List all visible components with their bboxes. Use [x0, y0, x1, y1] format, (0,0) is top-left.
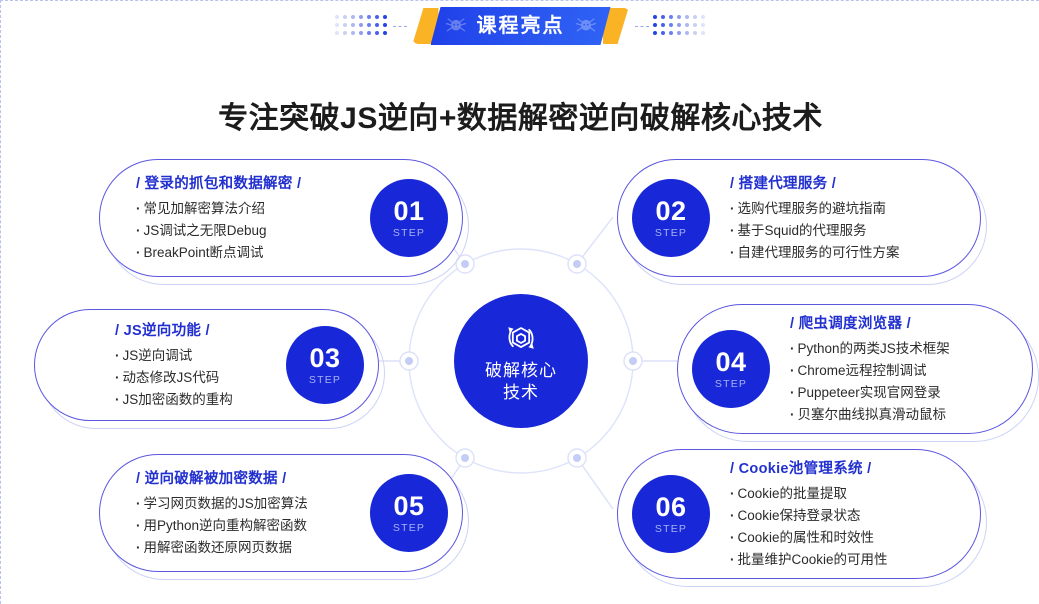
list-item: 学习网页数据的JS加密算法	[136, 493, 308, 515]
step-badge: 02 STEP	[632, 179, 710, 257]
list-item: JS调试之无限Debug	[136, 220, 301, 242]
list-item: JS加密函数的重构	[115, 389, 233, 411]
list-item: 选购代理服务的避坑指南	[730, 198, 900, 220]
card-pill: / JS逆向功能 / JS逆向调试 动态修改JS代码 JS加密函数的重构 03 …	[34, 309, 379, 421]
step-number: 02	[655, 198, 686, 225]
step-card-02[interactable]: 02 STEP / 搭建代理服务 / 选购代理服务的避坑指南 基于Squid的代…	[617, 159, 981, 277]
cube-rotate-icon	[501, 318, 541, 358]
card-pill: 04 STEP / 爬虫调度浏览器 / Python的两类JS技术框架 Chro…	[677, 304, 1033, 434]
card-body: / 登录的抓包和数据解密 / 常见加解密算法介绍 JS调试之无限Debug Br…	[130, 172, 307, 264]
card-body: / 搭建代理服务 / 选购代理服务的避坑指南 基于Squid的代理服务 自建代理…	[724, 172, 906, 264]
list-item: 用Python逆向重构解密函数	[136, 515, 308, 537]
card-item-list: Python的两类JS技术框架 Chrome远程控制调试 Puppeteer实现…	[790, 338, 950, 425]
list-item: 贝塞尔曲线拟真滑动鼠标	[790, 404, 950, 426]
banner-row: 课程亮点	[1, 5, 1039, 47]
step-number: 01	[393, 198, 424, 225]
list-item: JS逆向调试	[115, 345, 233, 367]
step-label: STEP	[715, 378, 747, 390]
list-item: 基于Squid的代理服务	[730, 220, 900, 242]
step-card-05[interactable]: / 逆向破解被加密数据 / 学习网页数据的JS加密算法 用Python逆向重构解…	[99, 454, 463, 572]
card-heading: / JS逆向功能 /	[115, 319, 233, 340]
card-pill: / 逆向破解被加密数据 / 学习网页数据的JS加密算法 用Python逆向重构解…	[99, 454, 463, 572]
spider-icon	[445, 17, 467, 35]
step-badge: 05 STEP	[370, 474, 448, 552]
list-item: Cookie的批量提取	[730, 483, 888, 505]
section-banner: 课程亮点	[413, 7, 629, 45]
card-item-list: JS逆向调试 动态修改JS代码 JS加密函数的重构	[115, 345, 233, 411]
list-item: Cookie保持登录状态	[730, 505, 888, 527]
card-heading: / 爬虫调度浏览器 /	[790, 312, 950, 333]
spider-icon	[575, 17, 597, 35]
list-item: BreakPoint断点调试	[136, 242, 301, 264]
step-number: 03	[309, 345, 340, 372]
list-item: 动态修改JS代码	[115, 367, 233, 389]
step-label: STEP	[655, 523, 687, 535]
list-item: 批量维护Cookie的可用性	[730, 549, 888, 571]
card-pill: 02 STEP / 搭建代理服务 / 选购代理服务的避坑指南 基于Squid的代…	[617, 159, 981, 277]
step-number: 04	[715, 349, 746, 376]
step-badge: 03 STEP	[286, 326, 364, 404]
dot-grid-right-decoration	[653, 15, 707, 37]
card-body: / Cookie池管理系统 / Cookie的批量提取 Cookie保持登录状态…	[724, 457, 894, 570]
card-item-list: 常见加解密算法介绍 JS调试之无限Debug BreakPoint断点调试	[136, 198, 301, 264]
step-card-06[interactable]: 06 STEP / Cookie池管理系统 / Cookie的批量提取 Cook…	[617, 449, 981, 579]
course-highlights-page: 课程亮点 专注突破JS逆向+数据解密逆向破解核心技术	[0, 0, 1039, 604]
card-body: / JS逆向功能 / JS逆向调试 动态修改JS代码 JS加密函数的重构	[109, 319, 239, 411]
card-pill: / 登录的抓包和数据解密 / 常见加解密算法介绍 JS调试之无限Debug Br…	[99, 159, 463, 277]
step-card-03[interactable]: / JS逆向功能 / JS逆向调试 动态修改JS代码 JS加密函数的重构 03 …	[34, 309, 379, 421]
dot-grid-left-decoration	[335, 15, 389, 37]
card-body: / 逆向破解被加密数据 / 学习网页数据的JS加密算法 用Python逆向重构解…	[130, 467, 314, 559]
hub-label-line2: 技术	[485, 382, 557, 404]
banner-title: 课程亮点	[477, 16, 565, 36]
card-item-list: 选购代理服务的避坑指南 基于Squid的代理服务 自建代理服务的可行性方案	[730, 198, 900, 264]
center-hub: 破解核心 技术	[454, 294, 588, 428]
list-item: Python的两类JS技术框架	[790, 338, 950, 360]
dashed-line-right	[635, 26, 649, 27]
step-badge: 06 STEP	[632, 475, 710, 553]
card-body: / 爬虫调度浏览器 / Python的两类JS技术框架 Chrome远程控制调试…	[784, 312, 956, 425]
step-card-04[interactable]: 04 STEP / 爬虫调度浏览器 / Python的两类JS技术框架 Chro…	[677, 304, 1033, 434]
hub-label: 破解核心 技术	[485, 360, 557, 404]
dashed-line-left	[393, 26, 407, 27]
card-item-list: Cookie的批量提取 Cookie保持登录状态 Cookie的属性和时效性 批…	[730, 483, 888, 570]
card-heading: / 登录的抓包和数据解密 /	[136, 172, 301, 193]
card-pill: 06 STEP / Cookie池管理系统 / Cookie的批量提取 Cook…	[617, 449, 981, 579]
list-item: Chrome远程控制调试	[790, 360, 950, 382]
step-label: STEP	[393, 227, 425, 239]
banner-core: 课程亮点	[431, 7, 611, 45]
step-badge: 01 STEP	[370, 179, 448, 257]
card-heading: / 搭建代理服务 /	[730, 172, 900, 193]
list-item: 常见加解密算法介绍	[136, 198, 301, 220]
card-heading: / Cookie池管理系统 /	[730, 457, 888, 478]
list-item: Cookie的属性和时效性	[730, 527, 888, 549]
list-item: 用解密函数还原网页数据	[136, 537, 308, 559]
card-item-list: 学习网页数据的JS加密算法 用Python逆向重构解密函数 用解密函数还原网页数…	[136, 493, 308, 559]
hub-label-line1: 破解核心	[485, 360, 557, 382]
step-badge: 04 STEP	[692, 330, 770, 408]
step-number: 05	[393, 493, 424, 520]
step-label: STEP	[393, 522, 425, 534]
card-heading: / 逆向破解被加密数据 /	[136, 467, 308, 488]
list-item: Puppeteer实现官网登录	[790, 382, 950, 404]
step-label: STEP	[309, 374, 341, 386]
step-card-01[interactable]: / 登录的抓包和数据解密 / 常见加解密算法介绍 JS调试之无限Debug Br…	[99, 159, 463, 277]
list-item: 自建代理服务的可行性方案	[730, 242, 900, 264]
step-label: STEP	[655, 227, 687, 239]
page-title: 专注突破JS逆向+数据解密逆向破解核心技术	[1, 93, 1039, 137]
step-number: 06	[655, 494, 686, 521]
